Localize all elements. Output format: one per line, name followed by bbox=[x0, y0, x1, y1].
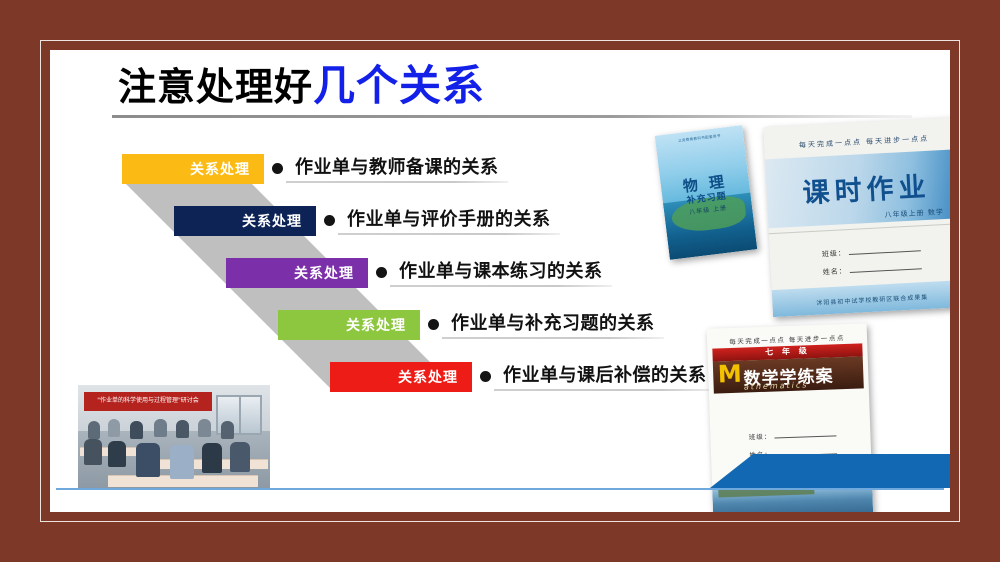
row-chip-label-3: 关系处理 bbox=[294, 263, 354, 283]
title-underline bbox=[112, 115, 912, 118]
slide-stage: 注意处理好几个关系 关系处理 作业单与教师备课的关系 关系处理 作业单与评价手册… bbox=[0, 0, 1000, 562]
row-text-1: 作业单与教师备课的关系 bbox=[295, 153, 499, 179]
row-chip-4[interactable]: 关系处理 bbox=[278, 310, 420, 340]
photo-attendee bbox=[202, 443, 222, 473]
row-bullet-5 bbox=[480, 371, 491, 382]
row-text-underline-2 bbox=[338, 233, 560, 235]
page-title: 注意处理好几个关系 bbox=[118, 63, 485, 109]
row-text-5: 作业单与课后补偿的关系 bbox=[503, 361, 707, 387]
row-text-2: 作业单与评价手册的关系 bbox=[347, 205, 551, 231]
photo-banner: "作业单的科学使用与过程管理"研讨会 bbox=[84, 392, 212, 411]
booklet-keshi-zuoye: 每天完成一点点 每天进步一点点 课时作业 八年级上册 数学 班级： 姓名： 沭阳… bbox=[763, 117, 950, 317]
keshi-class-label: 班级： bbox=[822, 250, 846, 259]
keshi-name-field: 姓名： bbox=[823, 262, 922, 277]
row-chip-label-2: 关系处理 bbox=[242, 211, 302, 231]
math-class-line bbox=[774, 435, 836, 438]
photo-attendee bbox=[176, 420, 189, 438]
math-m-mark: M bbox=[717, 362, 742, 387]
title-blue-part: 几个关系 bbox=[313, 61, 485, 110]
row-text-underline-5 bbox=[494, 389, 716, 391]
photo-attendee bbox=[136, 443, 160, 477]
photo-attendee bbox=[84, 439, 102, 465]
photo-attendee bbox=[230, 442, 250, 472]
row-bullet-4 bbox=[428, 319, 439, 330]
photo-attendee bbox=[170, 445, 194, 479]
row-chip-label-4: 关系处理 bbox=[346, 315, 406, 335]
keshi-class-field: 班级： bbox=[822, 245, 921, 260]
row-text-underline-1 bbox=[286, 181, 508, 183]
slide-canvas: 注意处理好几个关系 关系处理 作业单与教师备课的关系 关系处理 作业单与评价手册… bbox=[50, 50, 950, 512]
row-bullet-3 bbox=[376, 267, 387, 278]
row-chip-2[interactable]: 关系处理 bbox=[174, 206, 316, 236]
photo-attendee bbox=[198, 419, 211, 437]
row-chip-3[interactable]: 关系处理 bbox=[226, 258, 368, 288]
booklet-physics: 义务教育教科书配套用书 物 理 补充习题 八年级 上册 bbox=[655, 125, 758, 260]
row-chip-label-1: 关系处理 bbox=[190, 159, 250, 179]
row-text-underline-4 bbox=[442, 337, 664, 339]
row-bullet-1 bbox=[272, 163, 283, 174]
keshi-motto: 每天完成一点点 每天进步一点点 bbox=[764, 132, 950, 152]
math-class-field: 班级： bbox=[749, 428, 837, 441]
row-text-4: 作业单与补充习题的关系 bbox=[451, 309, 655, 335]
photo-attendee bbox=[108, 441, 126, 467]
row-chip-label-5: 关系处理 bbox=[398, 367, 458, 387]
conference-photo: "作业单的科学使用与过程管理"研讨会 bbox=[78, 385, 270, 490]
row-chip-5[interactable]: 关系处理 bbox=[330, 362, 472, 392]
keshi-name-line bbox=[850, 268, 922, 273]
row-bullet-2 bbox=[324, 215, 335, 226]
photo-attendee bbox=[108, 419, 120, 437]
photo-attendee bbox=[221, 421, 234, 439]
title-black-part: 注意处理好 bbox=[118, 65, 313, 109]
row-text-underline-3 bbox=[390, 285, 612, 287]
keshi-class-line bbox=[849, 251, 921, 256]
row-text-3: 作业单与课本练习的关系 bbox=[399, 257, 603, 283]
math-class-label: 班级： bbox=[749, 433, 772, 442]
bottom-blue-rule bbox=[56, 488, 944, 490]
keshi-name-label: 姓名： bbox=[823, 267, 847, 276]
photo-attendee bbox=[130, 421, 143, 439]
row-chip-1[interactable]: 关系处理 bbox=[122, 154, 264, 184]
photo-attendee bbox=[88, 421, 100, 439]
photo-attendee bbox=[154, 419, 167, 437]
